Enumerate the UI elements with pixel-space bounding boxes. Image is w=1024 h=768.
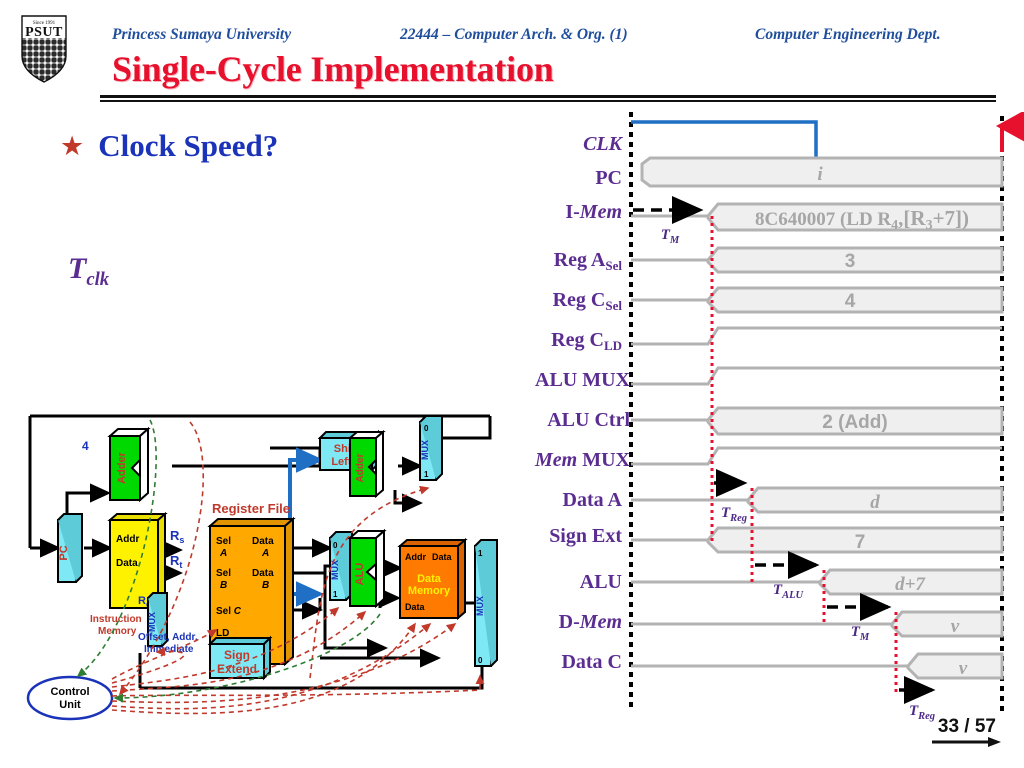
svg-text:Sel: Sel (216, 568, 231, 579)
timing-label-d-mem: D-Mem (559, 611, 622, 633)
timing-value-d-mem: v (951, 616, 960, 637)
svg-text:TReg: TReg (909, 703, 935, 722)
timing-label-reg-c-ld: Reg CLD (551, 329, 622, 353)
timing-wave-reg-c-sel: 4 (631, 288, 1002, 312)
header-department: Computer Engineering Dept. (755, 26, 941, 44)
dp-block-mux-pcsrc: MUX 0 1 (420, 416, 442, 480)
timing-wave-alu-mux (631, 368, 1002, 384)
timing-wave-i-mem: 8C640007 (LD R4,[R3+7]) (631, 204, 1002, 233)
svg-text:1: 1 (424, 470, 429, 479)
svg-text:TReg: TReg (721, 505, 747, 524)
timing-value-alu-ctrl: 2 (Add) (822, 412, 887, 433)
svg-text:Data: Data (116, 558, 138, 569)
timing-wave-data-c: v (631, 654, 1002, 679)
svg-text:TM: TM (851, 624, 870, 643)
svg-text:ALU: ALU (354, 563, 366, 586)
svg-text:MUX: MUX (420, 440, 430, 460)
timing-wave-mem-mux (631, 448, 1002, 464)
next-slide-arrow-icon[interactable] (930, 736, 1002, 748)
timing-value-sign-ext: 7 (855, 532, 866, 553)
dp-block-pc: PC (58, 514, 82, 582)
timing-value-i-mem: 8C640007 (LD R4,[R3+7]) (755, 206, 969, 233)
timing-wave-sign-ext: 7 (631, 528, 1002, 553)
dp-block-control-unit: Control Unit (28, 677, 112, 719)
svg-text:MUX: MUX (475, 596, 485, 616)
timing-delay-t-reg: TReg (714, 483, 747, 524)
timing-wave-pc: i (642, 158, 1002, 186)
svg-text:Memory: Memory (408, 585, 451, 597)
svg-text:TALU: TALU (773, 582, 805, 601)
timing-value-pc: i (817, 164, 823, 185)
svg-text:Sel C: Sel C (216, 606, 242, 617)
svg-text:Adder: Adder (355, 453, 366, 482)
timing-label-i-mem: I-Mem (565, 201, 622, 223)
svg-text:Adder: Adder (116, 451, 128, 484)
timing-label-pc: PC (595, 167, 622, 189)
psut-shield-logo: Since 1991 PSUT (18, 12, 70, 84)
dp-block-mux-alusrc: MUX 0 1 (330, 532, 352, 600)
svg-text:1: 1 (333, 590, 338, 599)
svg-text:MUX: MUX (147, 612, 157, 632)
tclk-subscript: clk (86, 269, 109, 290)
timing-label-alu-mux: ALU MUX (535, 369, 631, 391)
dp-label-const4: 4 (82, 439, 89, 453)
svg-text:A: A (219, 548, 227, 559)
svg-text:Data: Data (405, 602, 426, 612)
svg-text:Instruction: Instruction (90, 614, 142, 625)
timing-wave-reg-c-ld (631, 328, 1002, 344)
svg-text:Data: Data (417, 573, 442, 585)
svg-text:1: 1 (478, 549, 483, 558)
timing-wave-data-a: d (631, 488, 1002, 513)
timing-label-reg-a-sel: Reg ASel (554, 249, 623, 273)
dp-block-sign-extend: Sign Extend (210, 638, 270, 678)
timing-label-data-a: Data A (563, 489, 623, 511)
svg-text:0: 0 (333, 541, 338, 550)
datapath-diagram: PC Adder 4 Addr Data Instruction Memory … (20, 398, 520, 728)
svg-text:0: 0 (424, 424, 429, 433)
svg-text:Unit: Unit (59, 699, 81, 711)
header-course-code: 22444 – Computer Arch. & Org. (1) (400, 26, 628, 44)
svg-text:B: B (262, 580, 269, 591)
svg-text:Rt: Rt (170, 553, 182, 570)
timing-label-data-c: Data C (561, 651, 622, 673)
timing-value-reg-c-sel: 4 (845, 291, 856, 312)
dp-label-pc: PC (58, 545, 70, 560)
timing-label-clk: CLK (583, 133, 624, 155)
timing-label-mem-mux: Mem MUX (534, 449, 631, 471)
svg-text:Control: Control (50, 686, 89, 698)
dp-block-adder-pc: Adder (110, 429, 148, 500)
svg-text:Offset, Addr,: Offset, Addr, (138, 632, 198, 643)
timing-wave-d-mem: v (631, 612, 1002, 637)
dp-label-register-file: Register File (212, 501, 290, 516)
svg-text:B: B (220, 580, 227, 591)
svg-text:Rs: Rs (170, 528, 184, 545)
timing-label-reg-c-sel: Reg CSel (553, 289, 623, 313)
svg-text:Memory: Memory (98, 626, 137, 637)
svg-text:Sel: Sel (216, 536, 231, 547)
timing-label-alu-ctrl: ALU Ctrl (547, 409, 630, 431)
svg-text:Data: Data (432, 552, 453, 562)
tclk-base: T (68, 252, 86, 285)
dp-block-data-memory: Addr Data Data Memory Data (400, 540, 465, 618)
title-divider-bottom (100, 100, 996, 102)
star-bullet-icon: ★ (60, 133, 84, 160)
svg-text:TM: TM (661, 227, 680, 246)
timing-row-labels: CLK PC I-Mem Reg ASel Reg CSel Reg CLD A… (534, 133, 631, 673)
timing-wave-alu-ctrl: 2 (Add) (631, 408, 1002, 434)
bullet-clock-speed: ★ Clock Speed? (60, 128, 278, 164)
svg-text:Addr: Addr (405, 552, 426, 562)
svg-text:MUX: MUX (330, 560, 340, 580)
svg-text:Data: Data (252, 568, 274, 579)
svg-text:A: A (261, 548, 269, 559)
svg-text:Data: Data (252, 536, 274, 547)
page-number: 33 / 57 (938, 716, 996, 738)
timing-label-sign-ext: Sign Ext (549, 525, 622, 547)
svg-text:Addr: Addr (116, 534, 139, 545)
timing-value-data-a: d (870, 492, 880, 513)
title-divider-top (100, 95, 996, 98)
timing-value-alu: d+7 (895, 574, 926, 595)
timing-value-data-c: v (959, 658, 968, 679)
timing-label-alu: ALU (580, 571, 622, 593)
svg-text:PSUT: PSUT (25, 25, 63, 40)
bullet-label: Clock Speed? (98, 128, 278, 164)
timing-wave-alu: d+7 (631, 570, 1002, 595)
dp-block-adder-branch: Adder (350, 432, 383, 496)
page-title: Single-Cycle Implementation (112, 48, 554, 90)
timing-diagram: CLK PC I-Mem Reg ASel Reg CSel Reg CLD A… (490, 112, 1024, 722)
slide: Since 1991 PSUT Princess Sumaya Universi… (0, 0, 1024, 768)
header-university: Princess Sumaya University (112, 26, 291, 44)
tclk-symbol: Tclk (68, 252, 109, 291)
timing-delay-t-reg-end: TReg (899, 690, 935, 722)
timing-value-reg-a-sel: 3 (845, 251, 856, 272)
timing-wave-reg-a-sel: 3 (631, 248, 1002, 272)
svg-text:0: 0 (478, 656, 483, 665)
dp-block-alu: ALU (350, 531, 384, 606)
